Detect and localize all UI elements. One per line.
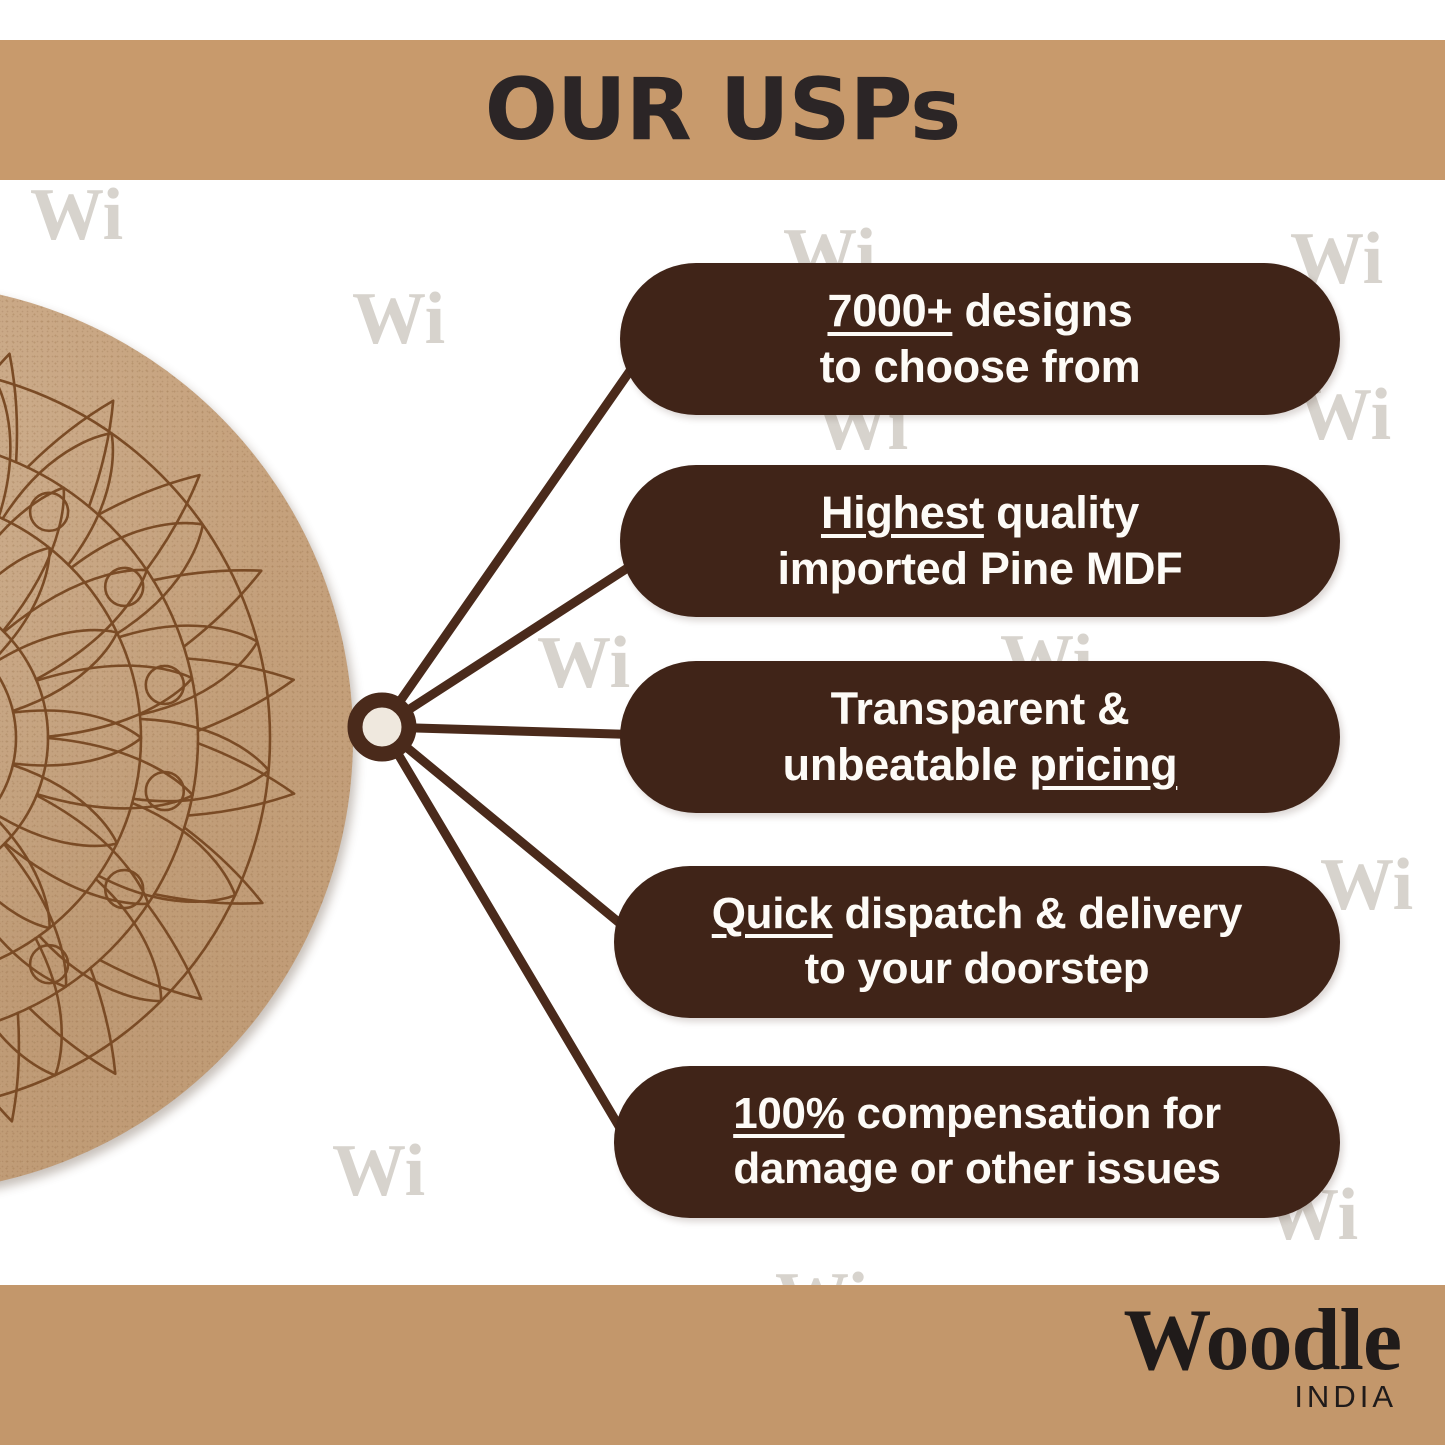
usp-list: 7000+ designs to choose from Highest qua… [0, 0, 1445, 1445]
usp-line-primary: 100% compensation for [733, 1087, 1221, 1142]
usp-text: Transparent & [831, 683, 1130, 734]
usp-line-primary: Quick dispatch & delivery [712, 887, 1242, 942]
usp-card-compensation[interactable]: 100% compensation for damage or other is… [614, 1066, 1340, 1218]
usp-text: dispatch & delivery [833, 889, 1243, 938]
usp-text: to choose from [820, 341, 1141, 392]
usp-text: unbeatable [783, 739, 1030, 790]
usp-line-secondary: to your doorstep [805, 942, 1150, 997]
usp-line-primary: Transparent & [831, 681, 1130, 737]
brand-logo: Woodle INDIA [1123, 1297, 1401, 1412]
usp-text: damage or other issues [733, 1144, 1220, 1193]
usp-card-material-quality[interactable]: Highest quality imported Pine MDF [620, 465, 1340, 617]
infographic-canvas: WiWiWiWiWiWiWiWiWiWiWiWi [0, 0, 1445, 1445]
usp-highlight: pricing [1029, 739, 1177, 790]
usp-highlight: 100% [733, 1089, 844, 1138]
usp-highlight: Highest [821, 487, 984, 538]
usp-highlight: Quick [712, 889, 833, 938]
page-title: OUR USPs [485, 67, 961, 153]
usp-text: designs [952, 285, 1132, 336]
usp-line-secondary: to choose from [820, 339, 1141, 395]
usp-line-secondary: unbeatable pricing [783, 737, 1178, 793]
usp-text: compensation for [845, 1089, 1221, 1138]
usp-line-primary: 7000+ designs [827, 283, 1132, 339]
usp-line-primary: Highest quality [821, 485, 1139, 541]
usp-card-pricing[interactable]: Transparent & unbeatable pricing [620, 661, 1340, 813]
usp-card-dispatch-delivery[interactable]: Quick dispatch & delivery to your doorst… [614, 866, 1340, 1018]
usp-highlight: 7000+ [827, 285, 952, 336]
usp-line-secondary: imported Pine MDF [778, 541, 1183, 597]
usp-text: to your doorstep [805, 944, 1150, 993]
usp-line-secondary: damage or other issues [733, 1142, 1220, 1197]
usp-text: imported Pine MDF [778, 543, 1183, 594]
footer-band: Woodle INDIA [0, 1285, 1445, 1445]
usp-card-designs-count[interactable]: 7000+ designs to choose from [620, 263, 1340, 415]
usp-text: quality [984, 487, 1139, 538]
header-band: OUR USPs [0, 40, 1445, 180]
brand-name: Woodle [1123, 1297, 1401, 1385]
